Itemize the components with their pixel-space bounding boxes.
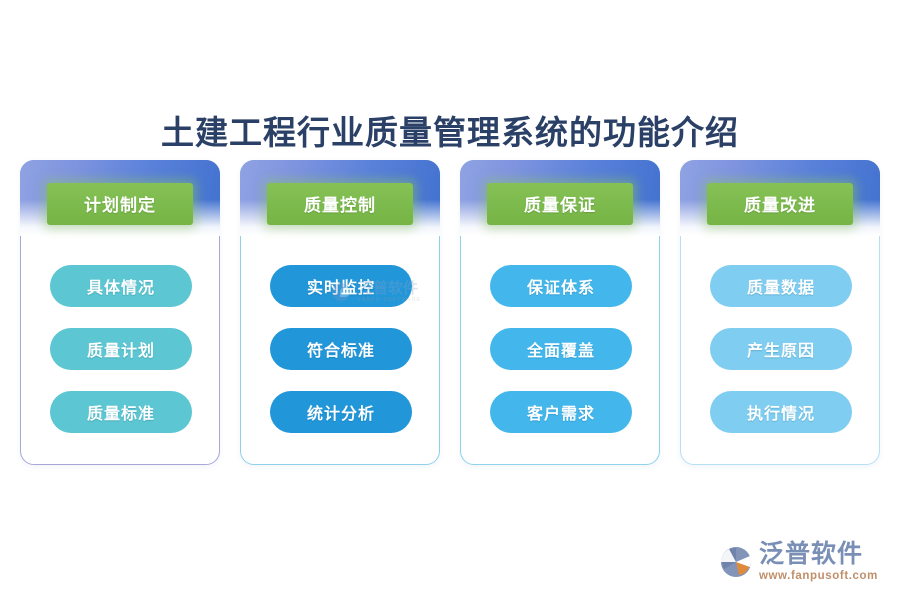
card-item-label: 执行情况 [747,400,815,424]
card-header-label: 质量改进 [744,196,816,215]
card-item-pill[interactable]: 保证体系 [490,265,632,307]
card-item-label: 符合标准 [307,337,375,361]
brand-website: www.fanpusoft.com [759,571,878,583]
brand-logo[interactable]: 泛普软件 www.fanpusoft.com [719,542,878,583]
card-item-pill[interactable]: 全面覆盖 [490,328,632,370]
card-item-label: 实时监控 [307,274,375,298]
card-item-label: 客户需求 [527,400,595,424]
fanpu-logo-icon [719,545,753,579]
card-header-chip[interactable]: 质量保证 [487,183,633,225]
feature-card-1[interactable]: 计划制定 具体情况 质量计划 质量标准 [20,160,220,465]
card-item-pill[interactable]: 符合标准 [270,328,412,370]
card-item-pill[interactable]: 执行情况 [710,391,852,433]
feature-card-2[interactable]: 质量控制 实时监控 符合标准 统计分析 [240,160,440,465]
card-item-pill[interactable]: 实时监控 [270,265,412,307]
card-item-label: 质量计划 [87,337,155,361]
page-title: 土建工程行业质量管理系统的功能介绍 [0,106,900,154]
card-item-list: 实时监控 符合标准 统计分析 [241,265,441,433]
card-item-pill[interactable]: 质量计划 [50,328,192,370]
card-item-pill[interactable]: 质量数据 [710,265,852,307]
card-item-label: 产生原因 [747,337,815,361]
card-item-list: 质量数据 产生原因 执行情况 [681,265,881,433]
card-item-label: 保证体系 [527,274,595,298]
card-header-label: 计划制定 [84,196,156,215]
card-item-pill[interactable]: 质量标准 [50,391,192,433]
card-header-label: 质量保证 [524,196,596,215]
card-item-list: 保证体系 全面覆盖 客户需求 [461,265,661,433]
feature-card-row: 计划制定 具体情况 质量计划 质量标准 质量控制 [20,160,880,465]
feature-card-3[interactable]: 质量保证 保证体系 全面覆盖 客户需求 [460,160,660,465]
card-header-chip[interactable]: 计划制定 [47,183,193,225]
card-item-pill[interactable]: 客户需求 [490,391,632,433]
brand-name-cn: 泛普软件 [759,542,878,567]
card-item-label: 统计分析 [307,400,375,424]
card-header-label: 质量控制 [304,196,376,215]
card-item-label: 全面覆盖 [527,337,595,361]
card-item-list: 具体情况 质量计划 质量标准 [21,265,221,433]
card-header-chip[interactable]: 质量改进 [707,183,853,225]
card-item-label: 质量标准 [87,400,155,424]
card-item-label: 具体情况 [87,274,155,298]
poster-canvas: 土建工程行业质量管理系统的功能介绍 泛普软件 FANPU SOFTWARE 计划… [0,0,900,600]
card-item-pill[interactable]: 产生原因 [710,328,852,370]
card-header-chip[interactable]: 质量控制 [267,183,413,225]
feature-card-4[interactable]: 质量改进 质量数据 产生原因 执行情况 [680,160,880,465]
card-item-pill[interactable]: 具体情况 [50,265,192,307]
brand-text: 泛普软件 www.fanpusoft.com [759,542,878,583]
card-item-label: 质量数据 [747,274,815,298]
card-item-pill[interactable]: 统计分析 [270,391,412,433]
